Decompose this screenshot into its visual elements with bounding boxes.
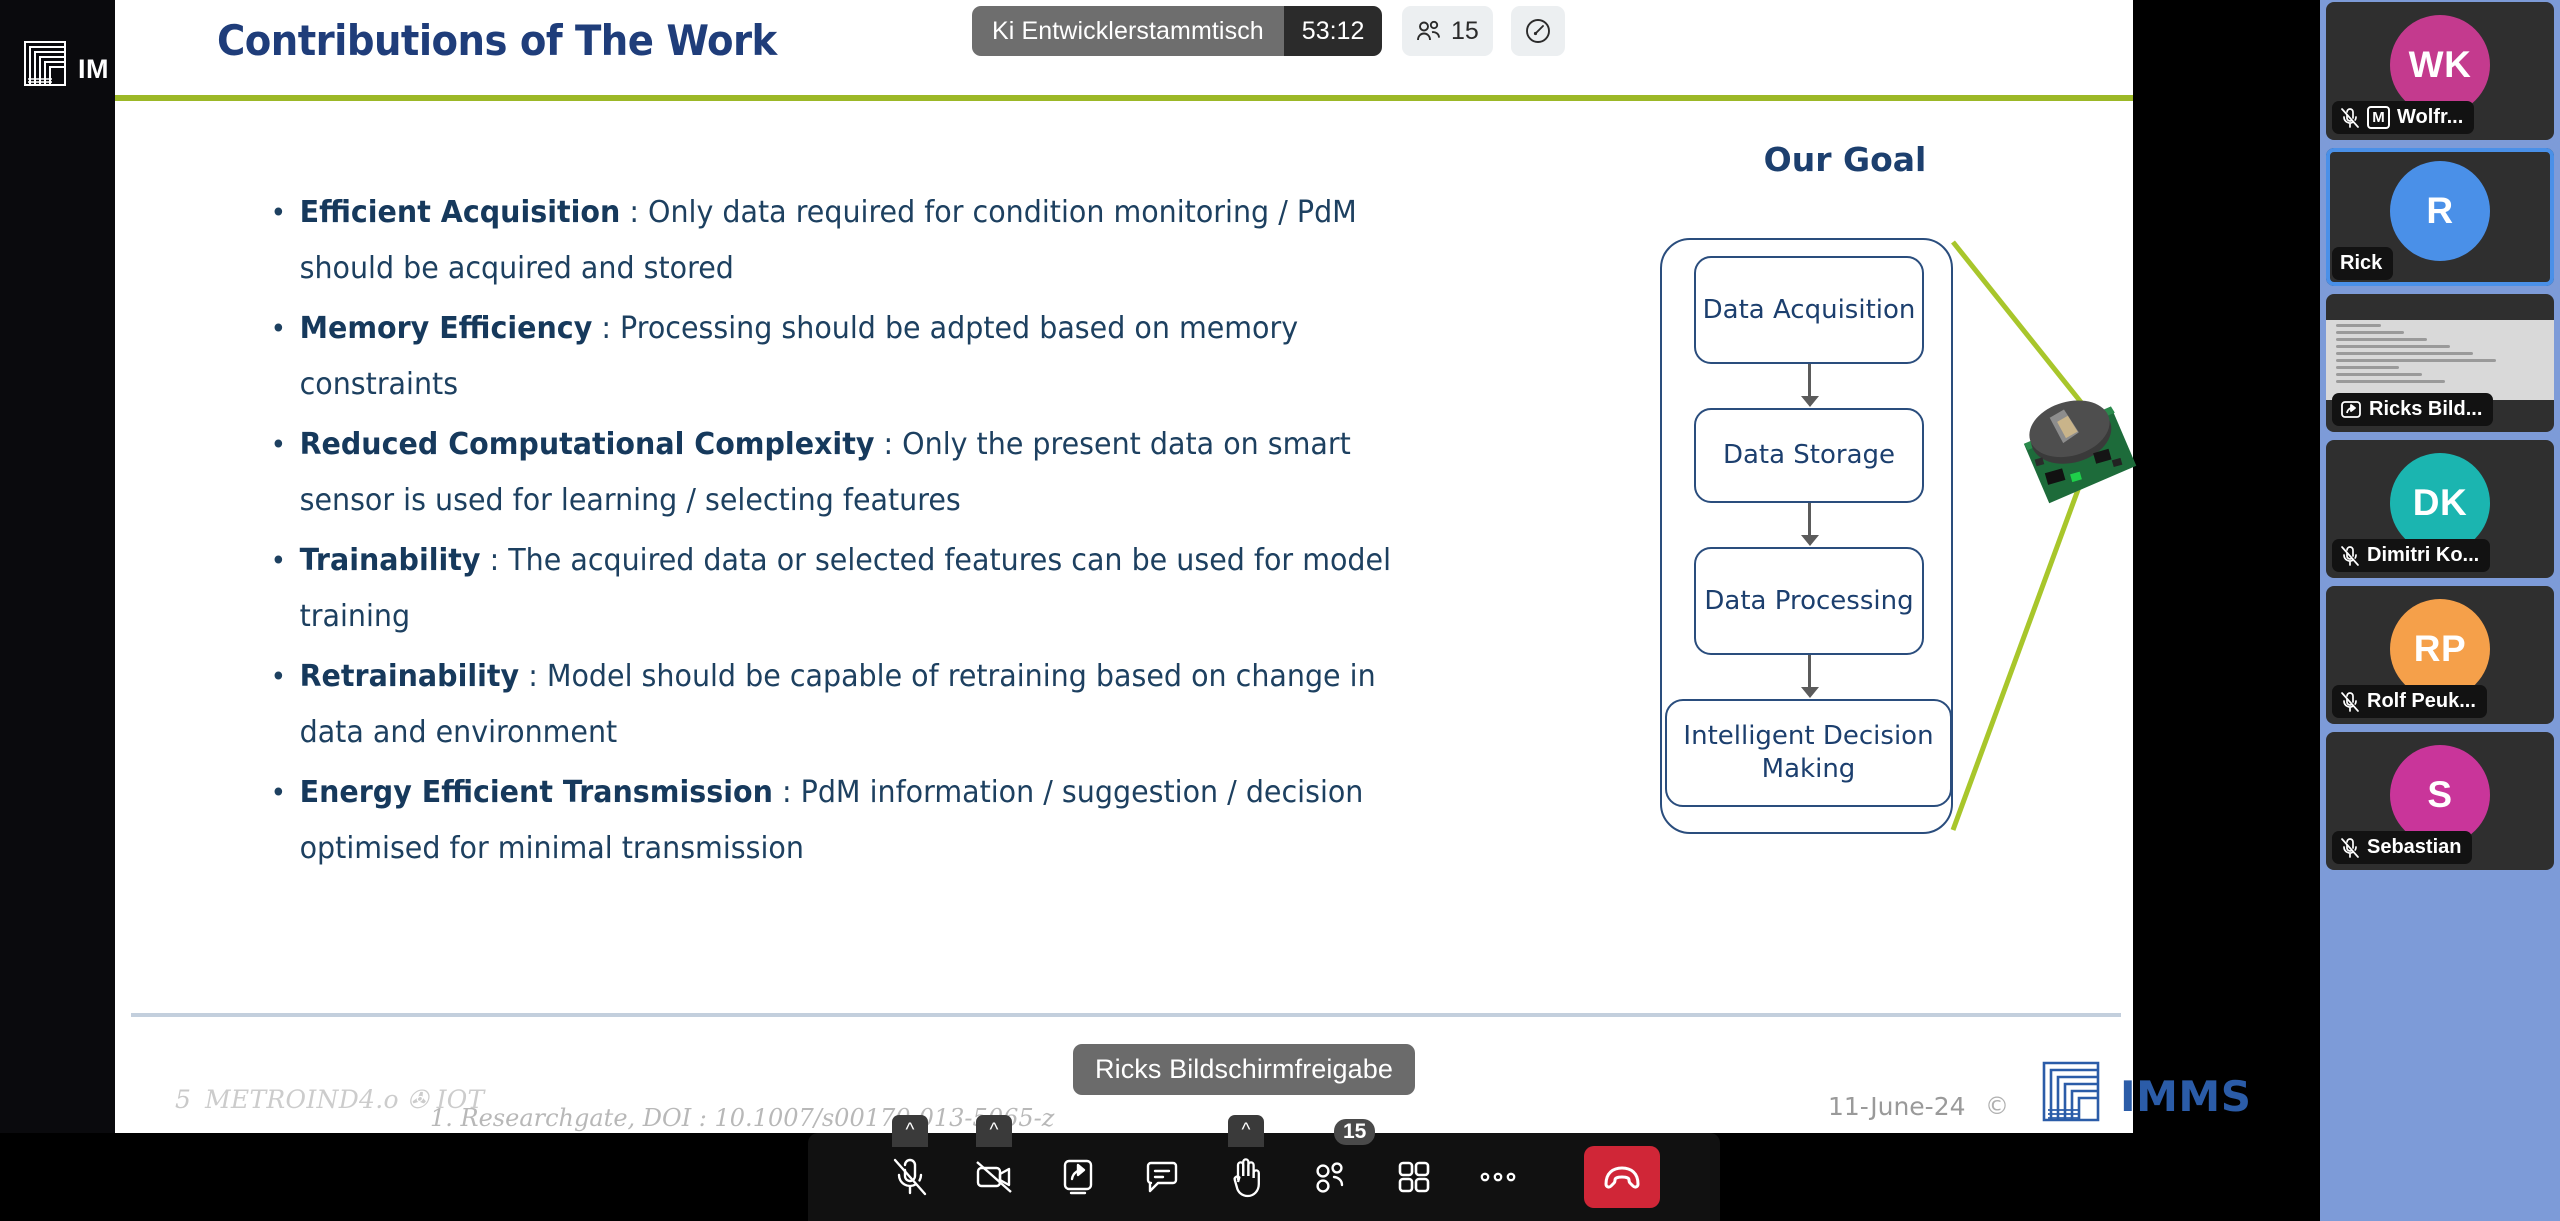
share-screen-icon <box>1060 1157 1096 1197</box>
participant-label: Dimitri Ko... <box>2332 539 2490 572</box>
slide-left-brandbar: IM <box>0 0 115 1133</box>
thumb-line <box>2336 380 2445 383</box>
flow-step-1-label: Data Storage <box>1723 439 1895 472</box>
bullet-term-2: Reduced Computational Complexity <box>300 427 875 462</box>
chat-button[interactable] <box>1120 1133 1204 1221</box>
flow-step-3: Intelligent Decision Making <box>1665 699 1952 807</box>
footer-citation: 1. Researchgate, DOI : 10.1007/s00170-01… <box>430 1104 1054 1132</box>
mic-options-caret-icon[interactable]: ^ <box>892 1115 928 1147</box>
camera-muted-button[interactable]: ^ <box>952 1133 1036 1221</box>
participant-name: Rolf Peuk... <box>2367 690 2476 713</box>
bullet-separator-4: : <box>519 659 547 694</box>
mic-muted-icon <box>2340 691 2360 713</box>
mic-muted-icon <box>2340 545 2360 567</box>
flow-arrow-2 <box>1808 655 1811 689</box>
flow-step-0: Data Acquisition <box>1694 256 1924 364</box>
header-participant-count: 15 <box>1451 17 1479 46</box>
screen-share-banner: Ricks Bildschirmfreigabe <box>1073 1044 1415 1095</box>
title-accent-rule <box>115 95 2133 101</box>
people-icon <box>1311 1160 1349 1194</box>
participant-label: Sebastian <box>2332 831 2472 864</box>
participant-label: MWolfr... <box>2332 101 2474 134</box>
imms-brand-text: IM <box>78 54 109 85</box>
participant-tile-2[interactable]: Ricks Bild... <box>2326 294 2554 432</box>
end-call-button[interactable] <box>1584 1146 1660 1208</box>
participant-tile-3[interactable]: DKDimitri Ko... <box>2326 440 2554 578</box>
mic-muted-icon <box>891 1156 929 1198</box>
bullet-separator-3: : <box>481 543 509 578</box>
bullet-separator-1: : <box>592 311 620 346</box>
bullet-item-3: Trainability : The acquired data or sele… <box>265 533 1434 645</box>
goal-heading: Our Goal <box>1725 140 1965 179</box>
thumb-line <box>2336 331 2404 334</box>
network-quality-icon <box>1524 17 1552 45</box>
meeting-info-pill[interactable]: Ki Entwicklerstammtisch 53:12 <box>972 6 1382 56</box>
bullet-item-1: Memory Efficiency : Processing should be… <box>265 301 1434 413</box>
contributions-bullet-list: Efficient Acquisition : Only data requir… <box>265 185 1515 881</box>
presentation-slide: Contributions of The Work Efficient Acqu… <box>115 0 2133 1133</box>
hangup-icon <box>1601 1162 1643 1192</box>
people-icon <box>1416 19 1442 43</box>
bullet-item-4: Retrainability : Model should be capable… <box>265 649 1434 761</box>
shared-screen-stage: IM Contributions of The Work Efficient A… <box>0 0 2320 1221</box>
bullet-item-2: Reduced Computational Complexity : Only … <box>265 417 1434 529</box>
thumb-line <box>2336 359 2496 362</box>
participant-name: Wolfr... <box>2397 106 2463 129</box>
participant-name: Rick <box>2340 252 2382 275</box>
more-dots-icon <box>1478 1169 1518 1185</box>
participant-tile-5[interactable]: SSebastian <box>2326 732 2554 870</box>
flow-arrow-1 <box>1808 503 1811 537</box>
bullet-term-0: Efficient Acquisition <box>300 195 621 230</box>
thumb-line <box>2336 324 2381 327</box>
bullet-separator-5: : <box>773 775 801 810</box>
slide-page-number: 5 <box>175 1085 191 1114</box>
thumb-line <box>2336 345 2450 348</box>
flow-step-1: Data Storage <box>1694 408 1924 503</box>
bullet-term-3: Trainability <box>300 543 481 578</box>
participant-label: Rick <box>2332 247 2393 280</box>
imms-footer-text: IMMS <box>2120 1072 2251 1121</box>
footer-date: 11-June-24 <box>1828 1092 1966 1121</box>
flow-arrow-0 <box>1808 364 1811 398</box>
bullet-item-0: Efficient Acquisition : Only data requir… <box>265 185 1434 297</box>
meeting-title: Ki Entwicklerstammtisch <box>972 6 1284 56</box>
layout-grid-button[interactable] <box>1372 1133 1456 1221</box>
participant-name: Sebastian <box>2367 836 2461 859</box>
mic-muted-icon <box>2340 107 2360 129</box>
chat-bubble-icon <box>1143 1159 1181 1195</box>
thumb-line <box>2336 352 2473 355</box>
participant-rail[interactable]: WKMWolfr...RRickRicks Bild...DKDimitri K… <box>2320 0 2560 1221</box>
thumb-line <box>2336 338 2427 341</box>
flow-step-2: Data Processing <box>1694 547 1924 655</box>
participant-label: Rolf Peuk... <box>2332 685 2487 718</box>
flow-step-3-label: Intelligent Decision Making <box>1667 720 1950 786</box>
bullet-separator-0: : <box>620 195 648 230</box>
network-quality-chip[interactable] <box>1511 6 1565 56</box>
imms-footer-logo-icon <box>2040 1058 2102 1124</box>
imms-logo-icon <box>22 38 68 88</box>
bullet-separator-2: : <box>874 427 902 462</box>
avatar: RP <box>2390 599 2490 699</box>
raise-hand-icon <box>1229 1156 1263 1198</box>
raise-hand-button[interactable]: ^ <box>1204 1133 1288 1221</box>
avatar: DK <box>2390 453 2490 553</box>
goal-flow-container: Data Acquisition Data Storage Data Proce… <box>1660 238 1953 834</box>
participant-tile-0[interactable]: WKMWolfr... <box>2326 2 2554 140</box>
slide-title: Contributions of The Work <box>217 16 777 65</box>
bullet-term-5: Energy Efficient Transmission <box>300 775 773 810</box>
meeting-screen-share-window: IM Contributions of The Work Efficient A… <box>0 0 2560 1221</box>
moderator-badge: M <box>2367 106 2390 129</box>
share-screen-icon <box>2340 399 2362 421</box>
share-screen-button[interactable] <box>1036 1133 1120 1221</box>
bullet-term-1: Memory Efficiency <box>300 311 593 346</box>
participant-tile-1[interactable]: RRick <box>2326 148 2554 286</box>
hand-options-caret-icon[interactable]: ^ <box>1228 1115 1264 1147</box>
camera-options-caret-icon[interactable]: ^ <box>976 1115 1012 1147</box>
flow-step-0-label: Data Acquisition <box>1703 294 1916 327</box>
participants-button[interactable]: 15 <box>1288 1133 1372 1221</box>
meeting-timer: 53:12 <box>1284 6 1383 56</box>
avatar: R <box>2390 161 2490 261</box>
flow-step-2-label: Data Processing <box>1704 585 1913 618</box>
bullet-term-4: Retrainability <box>300 659 520 694</box>
avatar: S <box>2390 745 2490 845</box>
participant-name: Ricks Bild... <box>2369 398 2482 421</box>
footer-divider <box>131 1013 2121 1017</box>
sensor-pcb-photo <box>2003 378 2148 518</box>
camera-muted-icon <box>974 1159 1014 1195</box>
mic-muted-icon <box>2340 837 2360 859</box>
more-options-button[interactable] <box>1456 1133 1540 1221</box>
participant-label: Ricks Bild... <box>2332 393 2493 426</box>
microphone-muted-button[interactable]: ^ <box>868 1133 952 1221</box>
participant-tile-4[interactable]: RPRolf Peuk... <box>2326 586 2554 724</box>
header-participants-chip[interactable]: 15 <box>1402 6 1493 56</box>
footer-copyright: © <box>1985 1092 2009 1120</box>
avatar: WK <box>2390 15 2490 115</box>
grid-layout-icon <box>1396 1159 1432 1195</box>
screenshare-thumbnail <box>2326 320 2554 400</box>
thumb-line <box>2336 366 2399 369</box>
bullet-item-5: Energy Efficient Transmission : PdM info… <box>265 765 1434 877</box>
participants-count-badge: 15 <box>1334 1119 1375 1145</box>
participant-name: Dimitri Ko... <box>2367 544 2479 567</box>
thumb-line <box>2336 373 2422 376</box>
meeting-control-bar: ^ ^ <box>808 1133 1720 1221</box>
